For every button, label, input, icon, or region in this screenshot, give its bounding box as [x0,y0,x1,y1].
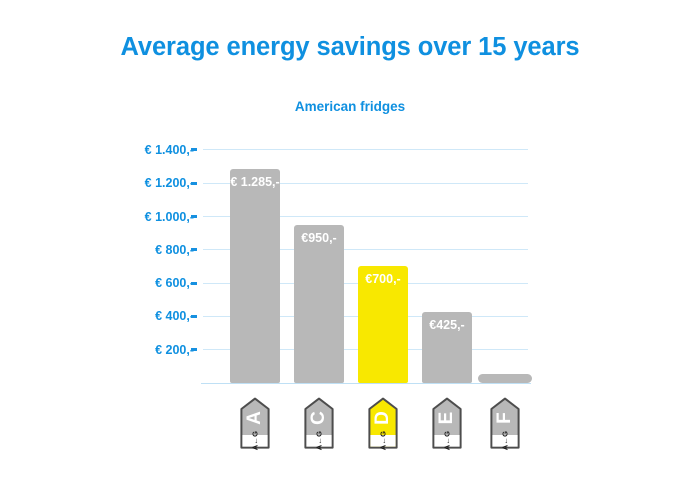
y-axis-tick-label: € 1.400,- [145,143,194,157]
bar-e: €425,- [422,312,472,383]
bar-value-label: €700,- [358,272,408,286]
y-axis-tick-mark [191,282,197,285]
y-axis-tick-mark [191,348,197,351]
energy-label-badge-a: AA←G [240,397,270,449]
bar-f [478,374,532,383]
badge-scale-text: A←G [441,426,454,456]
badge-scale-text: A←G [499,426,512,456]
bar-d: €700,- [358,266,408,383]
energy-label-badge-f: FA←G [490,397,520,449]
plot-area: € 200,-€ 400,-€ 600,-€ 800,-€ 1.000,-€ 1… [0,0,700,485]
y-axis-tick-label: € 1.000,- [145,210,194,224]
bar-value-label: €950,- [294,231,344,245]
y-axis-tick-mark [191,215,197,218]
energy-label-badge-d: DA←G [368,397,398,449]
gridline [203,149,528,150]
bar-c: €950,- [294,225,344,383]
energy-label-badge-c: CA←G [304,397,334,449]
y-axis-tick-label: € 1.200,- [145,176,194,190]
y-axis-tick-mark [191,315,197,318]
bar-a: € 1.285,- [230,169,280,383]
y-axis-tick-mark [191,248,197,251]
y-axis-tick-mark [191,148,197,151]
badge-scale-text: A←G [313,426,326,456]
energy-savings-chart: Average energy savings over 15 years Ame… [0,0,700,485]
y-axis-tick-mark [191,182,197,185]
badge-scale-text: A←G [377,426,390,456]
bar-value-label: € 1.285,- [230,175,280,189]
energy-label-badge-e: EA←G [432,397,462,449]
bar-value-label: €425,- [422,318,472,332]
y-axis-tick-label: € 200,- [155,343,194,357]
badge-scale-text: A←G [249,426,262,456]
y-axis-tick-label: € 600,- [155,276,194,290]
y-axis-tick-label: € 800,- [155,243,194,257]
y-axis-tick-label: € 400,- [155,309,194,323]
